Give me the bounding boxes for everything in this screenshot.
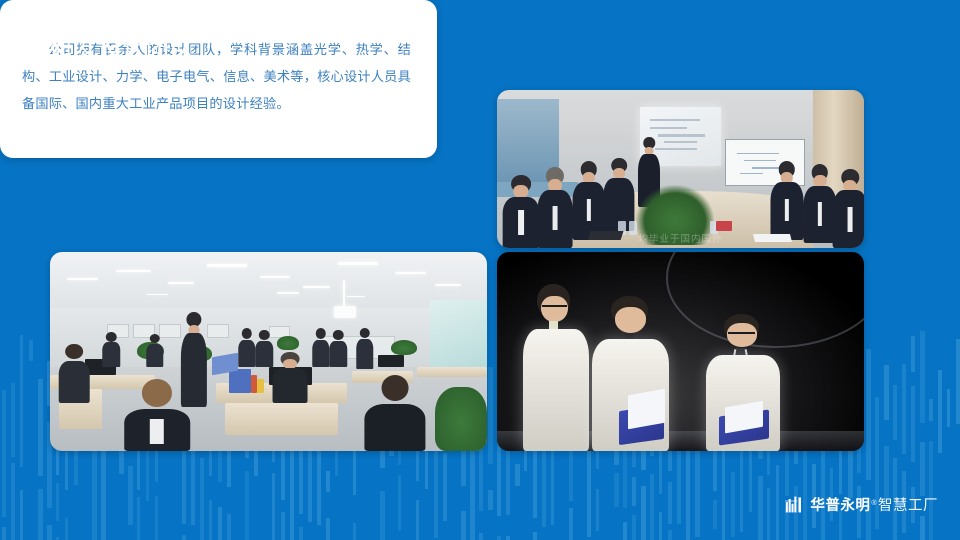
brand-registered-mark: ® <box>871 500 877 507</box>
brand-suffix: 智慧工厂 <box>878 494 938 515</box>
brand-name: 华普永明 <box>810 494 870 515</box>
photo-meeting-room-image: 均毕业于国内国外 <box>497 90 864 248</box>
photo-lab-inspection <box>497 252 864 451</box>
page-title: 研发设计团队 <box>50 32 194 62</box>
photo-watermark-text: 均毕业于国内国外 <box>497 231 864 245</box>
photo-open-office-image <box>50 252 487 451</box>
photo-open-office <box>50 252 487 451</box>
photo-meeting-room: 均毕业于国内国外 <box>497 90 864 248</box>
building-bars-logo-icon <box>785 495 804 514</box>
description-card: 公司拥有百余人的设计团队，学科背景涵盖光学、热学、结构、工业设计、力学、电子电气… <box>0 0 437 158</box>
photo-lab-inspection-image <box>497 252 864 451</box>
brand-logo-text: 华普永明 ® 智慧工厂 <box>810 494 938 515</box>
brand-logo: 华普永明 ® 智慧工厂 <box>785 494 938 515</box>
